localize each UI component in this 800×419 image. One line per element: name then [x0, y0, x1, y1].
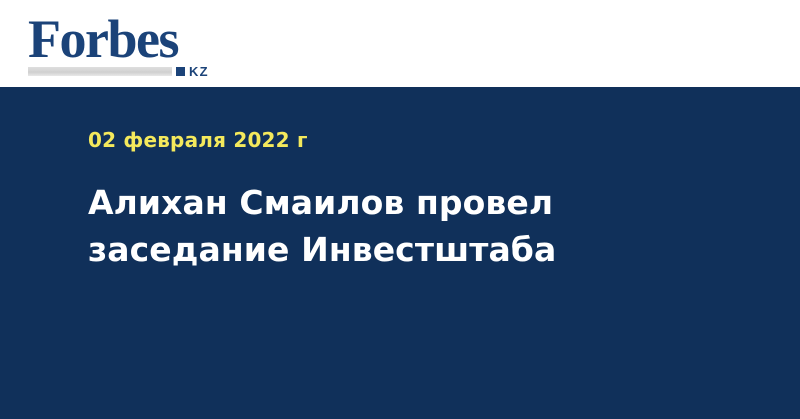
- article-headline: Алихан Смаилов провел заседание Инвестшт…: [88, 179, 728, 273]
- article-hero-panel: 02 февраля 2022 г Алихан Смаилов провел …: [0, 87, 800, 419]
- logo-square-icon: [176, 67, 185, 76]
- headline-line-1: Алихан Смаилов провел: [88, 179, 728, 226]
- article-share-card: Forbes KZ 02 февраля 2022 г Алихан Смаил…: [0, 0, 800, 419]
- logo-rule-divider: [28, 67, 172, 76]
- logo-locale-label: KZ: [189, 65, 209, 78]
- article-date: 02 февраля 2022 г: [88, 128, 308, 152]
- site-header: Forbes KZ: [0, 0, 800, 87]
- forbes-wordmark: Forbes: [28, 12, 178, 66]
- headline-line-2: заседание Инвестштаба: [88, 226, 728, 273]
- forbes-kz-logo[interactable]: Forbes KZ: [28, 12, 228, 78]
